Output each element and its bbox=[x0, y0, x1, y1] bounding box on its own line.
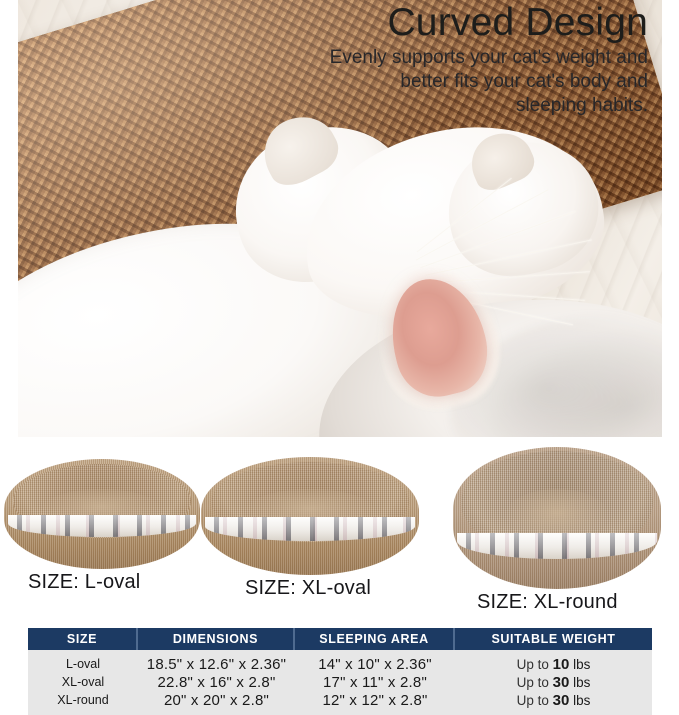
product-label-xl-oval: SIZE: XL-oval bbox=[245, 577, 371, 600]
cell-sleeping-area: 14" x 10" x 2.36" bbox=[295, 656, 455, 673]
hero-subtitle-line-2: better fits your cat's body and bbox=[400, 71, 648, 92]
weight-unit: lbs bbox=[573, 693, 590, 708]
hero-text-block: Curved Design Evenly supports your cat's… bbox=[248, 2, 648, 118]
table-row: XL-round 20" x 20" x 2.8" 12" x 12" x 2.… bbox=[28, 691, 652, 709]
specifications-table: SIZE DIMENSIONS SLEEPING AREA SUITABLE W… bbox=[28, 628, 652, 715]
column-header-sleeping-area: SLEEPING AREA bbox=[295, 628, 455, 650]
cell-size: XL-oval bbox=[28, 675, 138, 689]
cell-dimensions: 22.8" x 16" x 2.8" bbox=[138, 674, 295, 691]
product-label-l-oval: SIZE: L-oval bbox=[28, 571, 140, 594]
hero-subtitle: Evenly supports your cat's weight and be… bbox=[248, 46, 648, 118]
bowl-decorative-band bbox=[457, 533, 657, 559]
column-header-size: SIZE bbox=[28, 628, 138, 650]
bowl-decorative-band bbox=[205, 517, 415, 541]
cell-suitable-weight: Up to 30 lbs bbox=[455, 674, 652, 691]
product-size-gallery: SIZE: L-oval SIZE: XL-oval SIZE: XL-roun… bbox=[0, 443, 679, 623]
column-header-suitable-weight: SUITABLE WEIGHT bbox=[455, 628, 652, 650]
product-xl-round[interactable] bbox=[453, 447, 661, 589]
weight-value: 30 bbox=[553, 692, 570, 709]
bowl-decorative-band bbox=[8, 515, 196, 537]
product-xl-oval[interactable] bbox=[201, 457, 419, 575]
product-l-oval[interactable] bbox=[4, 459, 200, 569]
product-label-xl-round: SIZE: XL-round bbox=[477, 591, 618, 614]
table-row: L-oval 18.5" x 12.6" x 2.36" 14" x 10" x… bbox=[28, 655, 652, 673]
table-body: L-oval 18.5" x 12.6" x 2.36" 14" x 10" x… bbox=[28, 650, 652, 715]
cell-suitable-weight: Up to 10 lbs bbox=[455, 656, 652, 673]
weight-unit: lbs bbox=[573, 657, 590, 672]
bowl-l-oval bbox=[4, 459, 200, 569]
cell-size: L-oval bbox=[28, 657, 138, 671]
bowl-xl-round bbox=[453, 447, 661, 589]
weight-value: 10 bbox=[553, 656, 570, 673]
weight-prefix: Up to bbox=[517, 693, 549, 708]
cell-suitable-weight: Up to 30 lbs bbox=[455, 692, 652, 709]
weight-value: 30 bbox=[553, 674, 570, 691]
table-row: XL-oval 22.8" x 16" x 2.8" 17" x 11" x 2… bbox=[28, 673, 652, 691]
bowl-xl-oval bbox=[201, 457, 419, 575]
cell-dimensions: 20" x 20" x 2.8" bbox=[138, 692, 295, 709]
cell-sleeping-area: 12" x 12" x 2.8" bbox=[295, 692, 455, 709]
hero-subtitle-line-1: Evenly supports your cat's weight and bbox=[330, 47, 648, 68]
cell-size: XL-round bbox=[28, 693, 138, 707]
weight-prefix: Up to bbox=[517, 657, 549, 672]
weight-unit: lbs bbox=[573, 675, 590, 690]
hero-lifestyle-photo: Curved Design Evenly supports your cat's… bbox=[18, 0, 662, 437]
table-header-row: SIZE DIMENSIONS SLEEPING AREA SUITABLE W… bbox=[28, 628, 652, 650]
hero-subtitle-line-3: sleeping habits. bbox=[516, 95, 648, 116]
weight-prefix: Up to bbox=[517, 675, 549, 690]
column-header-dimensions: DIMENSIONS bbox=[138, 628, 295, 650]
hero-title: Curved Design bbox=[248, 2, 648, 44]
cell-sleeping-area: 17" x 11" x 2.8" bbox=[295, 674, 455, 691]
cell-dimensions: 18.5" x 12.6" x 2.36" bbox=[138, 656, 295, 673]
